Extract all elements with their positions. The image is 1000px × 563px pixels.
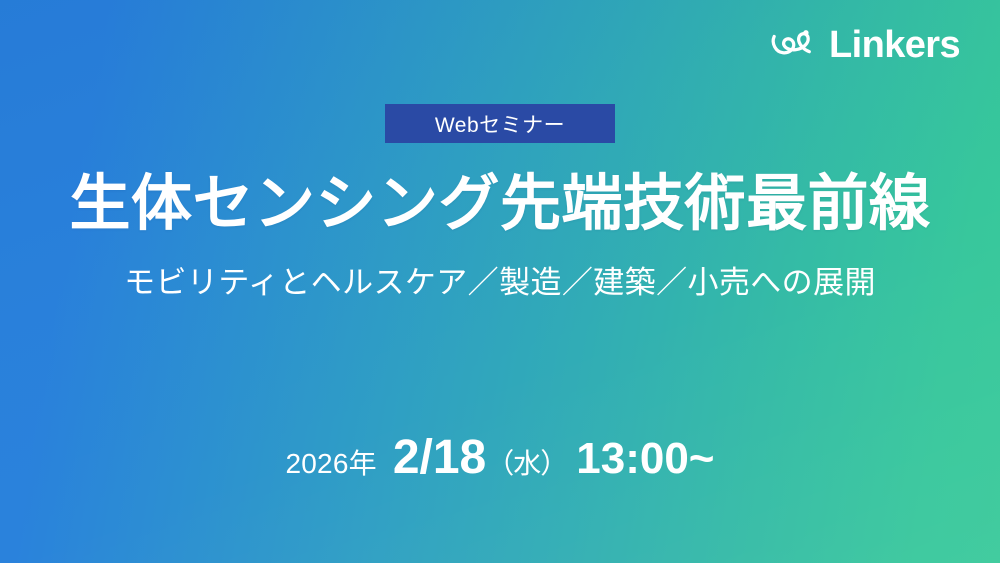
seminar-banner: Linkers Webセミナー 生体センシング先端技術最前線 モビリティとヘルス… (0, 0, 1000, 563)
date-month-day: 2/18 (393, 430, 486, 485)
badge-row: Webセミナー (0, 104, 1000, 143)
date-year: 2026年 (286, 442, 377, 482)
date-start-time: 13:00~ (576, 434, 714, 484)
headline-block: 生体センシング先端技術最前線 モビリティとヘルスケア／製造／建築／小売への展開 (0, 168, 1000, 301)
linkers-mark-dot (803, 30, 808, 35)
date-weekday: （水） (486, 442, 567, 482)
seminar-title: 生体センシング先端技術最前線 (0, 168, 1000, 240)
linkers-butterfly-mark (769, 28, 817, 62)
linkers-wordmark: Linkers (829, 26, 960, 64)
seminar-subtitle: モビリティとヘルスケア／製造／建築／小売への展開 (0, 264, 1000, 301)
linkers-logo: Linkers (769, 26, 960, 64)
seminar-datetime: 2026年 2/18 （水） 13:00~ (0, 430, 1000, 485)
webinar-type-badge: Webセミナー (385, 104, 615, 143)
